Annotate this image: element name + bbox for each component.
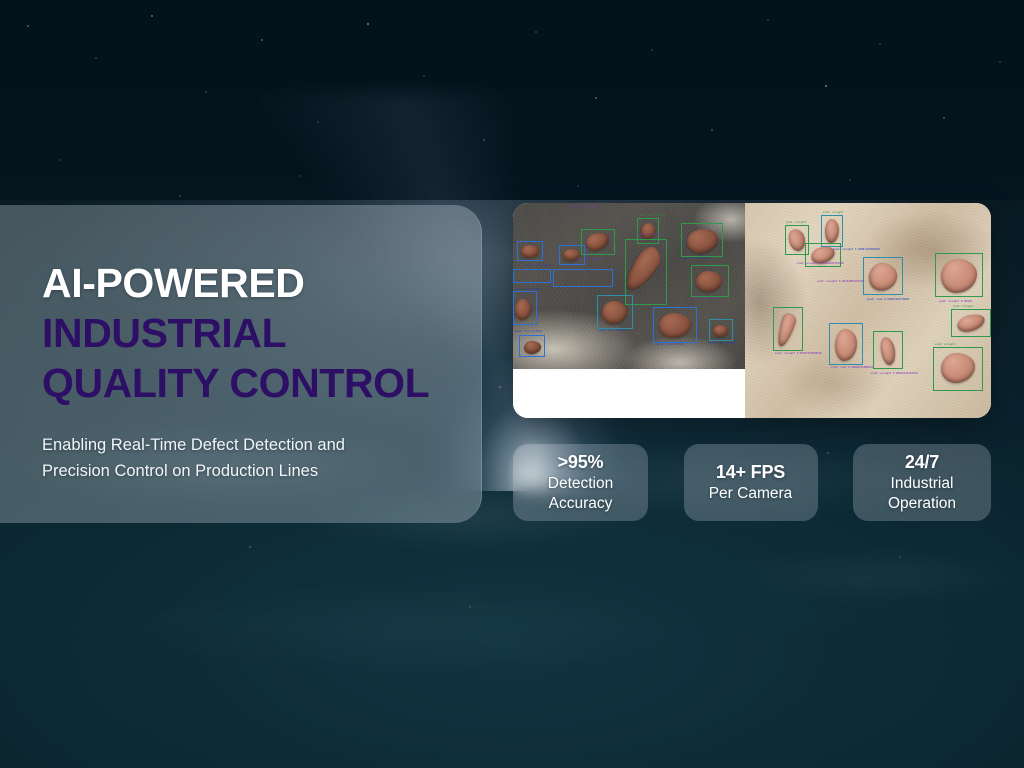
detection-label: pred: corr 0.9452 bbox=[639, 215, 666, 218]
detection-label: pred: cast 0.90981306379896 bbox=[867, 299, 909, 302]
detection-box bbox=[863, 257, 903, 295]
detection-box bbox=[829, 323, 863, 365]
detection-label: pred: wrought bbox=[935, 344, 955, 347]
detection-label: pred: corr 0.9713 bbox=[683, 258, 710, 261]
detection-label: pred: corr 0.9047 bbox=[599, 330, 626, 333]
stat-card-throughput[interactable]: 14+ FPS Per Camera bbox=[684, 444, 818, 521]
stat-value: 24/7 bbox=[905, 451, 939, 474]
headline-line-2: INDUSTRIAL bbox=[42, 313, 425, 354]
stat-card-detection-accuracy[interactable]: >95% Detection Accuracy bbox=[513, 444, 648, 521]
stat-value: 14+ FPS bbox=[716, 461, 785, 484]
detection-image-dark-metal: pred: corr 0.9880 pred: corr 0.9452 pred… bbox=[513, 203, 745, 418]
stat-card-row: >95% Detection Accuracy 14+ FPS Per Came… bbox=[513, 444, 991, 521]
stat-label: Industrial bbox=[891, 474, 954, 494]
detection-box bbox=[517, 241, 543, 261]
detection-label: pred: wrought bbox=[786, 222, 806, 225]
detection-label: pred: wrought 0.96920 bbox=[939, 301, 972, 304]
board-surface: pred: wrought pred: wrought pred: wrough… bbox=[745, 203, 991, 418]
detection-box bbox=[873, 331, 903, 369]
stat-card-uptime[interactable]: 24/7 Industrial Operation bbox=[853, 444, 991, 521]
stat-label: Accuracy bbox=[549, 494, 613, 514]
detection-label: pred: corr 0.9601 bbox=[637, 234, 664, 237]
headline-line-3: QUALITY CONTROL bbox=[42, 363, 425, 404]
detection-label: pred: corr 0.9274 bbox=[709, 343, 736, 346]
detection-box bbox=[933, 347, 983, 391]
subtitle: Enabling Real-Time Defect Detection and … bbox=[42, 433, 425, 484]
stat-label: Per Camera bbox=[709, 484, 793, 504]
stat-value: >95% bbox=[558, 451, 604, 474]
detection-label: pred: wrought bbox=[823, 212, 843, 215]
headline-line-1: AI-POWERED bbox=[42, 263, 425, 304]
detection-box bbox=[935, 253, 983, 297]
subtitle-line-2: Precision Control on Production Lines bbox=[42, 462, 318, 480]
subtitle-line-1: Enabling Real-Time Defect Detection and bbox=[42, 436, 345, 454]
slide-canvas: AI-POWERED INDUSTRIAL QUALITY CONTROL En… bbox=[0, 0, 1024, 768]
detection-label: pred: wrought 0.94081190306894 bbox=[833, 249, 880, 252]
page-title: AI-POWERED INDUSTRIAL QUALITY CONTROL bbox=[42, 263, 425, 404]
detection-box bbox=[581, 229, 615, 255]
detection-label: pred: corr 0.9713 bbox=[657, 344, 684, 347]
detection-box bbox=[951, 309, 991, 337]
detection-box bbox=[513, 291, 537, 325]
detection-box bbox=[653, 307, 697, 343]
detection-label: pred: wrought 0.90497076588150 bbox=[775, 353, 822, 356]
detection-label: pred: corr 0.9533 bbox=[515, 331, 542, 334]
detection-box bbox=[709, 319, 733, 341]
detection-label: pred: wrought bbox=[953, 306, 973, 309]
detection-label: pred: corr 0.9156 bbox=[515, 289, 542, 292]
detection-box bbox=[691, 265, 729, 297]
detection-box bbox=[681, 223, 723, 257]
detection-label: pred: wrought 0.98102803197628 bbox=[817, 281, 864, 284]
metal-surface: pred: corr 0.9880 pred: corr 0.9452 pred… bbox=[513, 203, 745, 369]
detection-label: pred: corr 0.9880 bbox=[571, 206, 598, 209]
detection-image-tan-board: pred: wrought pred: wrought pred: wrough… bbox=[745, 203, 991, 418]
detection-showcase-card: pred: corr 0.9880 pred: corr 0.9452 pred… bbox=[513, 203, 991, 418]
detection-label: pred: corr 0.9388 bbox=[575, 259, 602, 262]
detection-box bbox=[597, 295, 633, 329]
detection-box bbox=[553, 269, 613, 287]
hero-glass-panel: AI-POWERED INDUSTRIAL QUALITY CONTROL En… bbox=[0, 205, 482, 523]
detection-label: pred: corr 0.9219 bbox=[693, 298, 720, 301]
stat-label: Operation bbox=[888, 494, 956, 514]
detection-box bbox=[773, 307, 803, 351]
stat-label: Detection bbox=[548, 474, 613, 494]
detection-box bbox=[513, 269, 551, 283]
detection-label: pred: corr 0.9274 bbox=[525, 265, 552, 268]
detection-label: pred: cast 0.98460241688203 bbox=[831, 367, 873, 370]
detection-label: pred: wrought 0.90004428101930 bbox=[871, 373, 918, 376]
detection-label: pred: wrought 0.90048029761220 bbox=[797, 263, 844, 266]
detection-box bbox=[519, 335, 545, 357]
